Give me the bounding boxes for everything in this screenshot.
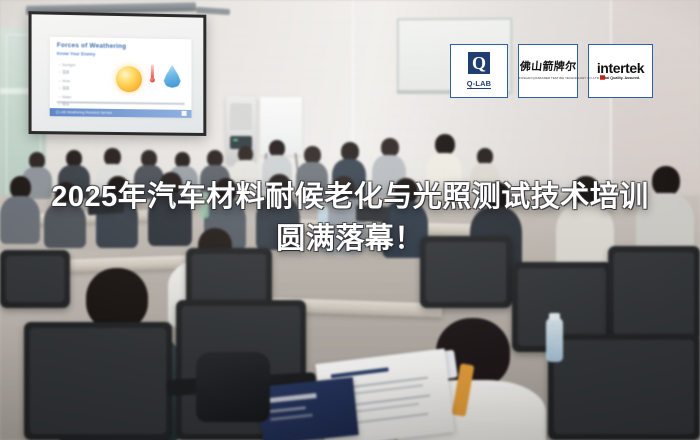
backpack — [196, 352, 270, 422]
slide-subtitle: Know Your Enemy — [57, 51, 96, 57]
seal-mark-icon — [600, 75, 605, 80]
water-bottle — [318, 206, 328, 234]
slide-bullet: 湿度 — [59, 86, 105, 92]
foshan-subtitle: FOSHAN QIANFANER TESTING TECHNOLOGY CO.,… — [519, 75, 577, 80]
q-lab-mark-letter: Q — [472, 54, 486, 72]
attendee — [556, 176, 614, 270]
slide-bullet: 温度 — [59, 70, 105, 76]
water-bottle — [546, 318, 563, 362]
logo-bar: Q Q-LAB 佛山箭牌尔 FOSHAN QIANFANER TESTING T… — [450, 44, 653, 98]
wall-seam — [610, 0, 612, 200]
slide-bullet-list: Sunlight 温度 Heat 湿度 Water 雨水 — [59, 63, 105, 111]
slide-bullet: Sunlight — [59, 63, 105, 68]
intertek-wordmark: intertek — [589, 61, 652, 75]
laptop — [88, 195, 124, 216]
office-chair — [420, 236, 512, 308]
q-lab-mark-icon: Q — [468, 52, 490, 74]
projection-screen: Forces of Weathering Know Your Enemy Sun… — [29, 11, 207, 136]
foshan-wordmark: 佛山箭牌尔 — [519, 62, 578, 73]
office-chair — [24, 322, 172, 440]
attendee — [426, 134, 462, 198]
office-chair — [608, 246, 700, 342]
presentation-slide: Forces of Weathering Know Your Enemy Sun… — [50, 37, 192, 118]
slide-footer-text: Q-LAB Weathering Research Service — [56, 110, 112, 115]
water-bottle — [200, 192, 209, 218]
slide-title: Forces of Weathering — [57, 42, 126, 50]
poster-root: Q Q-LAB 佛山箭牌尔 FOSHAN QIANFANER TESTING T… — [0, 0, 700, 440]
logo-card-intertek: intertek Total Quality. Assured. — [588, 44, 653, 98]
attendee — [0, 176, 40, 242]
office-chair — [548, 334, 700, 440]
slide-footer-bar: Q-LAB Weathering Research Service — [50, 108, 192, 118]
booklet-cover — [257, 377, 359, 440]
logo-card-foshan-qianfaner: 佛山箭牌尔 FOSHAN QIANFANER TESTING TECHNOLOG… — [518, 44, 578, 98]
logo-card-q-lab: Q Q-LAB — [450, 44, 508, 98]
laptop — [356, 205, 390, 223]
slide-footer-logo-icon — [182, 111, 187, 116]
attendee — [44, 182, 86, 246]
slide-bullet: Heat — [59, 79, 105, 84]
q-lab-wordmark: Q-LAB — [467, 80, 491, 89]
sun-icon — [116, 66, 142, 92]
screen-surface: Forces of Weathering Know Your Enemy Sun… — [32, 14, 204, 133]
thermometer-icon — [150, 65, 155, 87]
slide-bullet: Water — [59, 95, 105, 100]
water-drop-icon — [164, 65, 181, 88]
